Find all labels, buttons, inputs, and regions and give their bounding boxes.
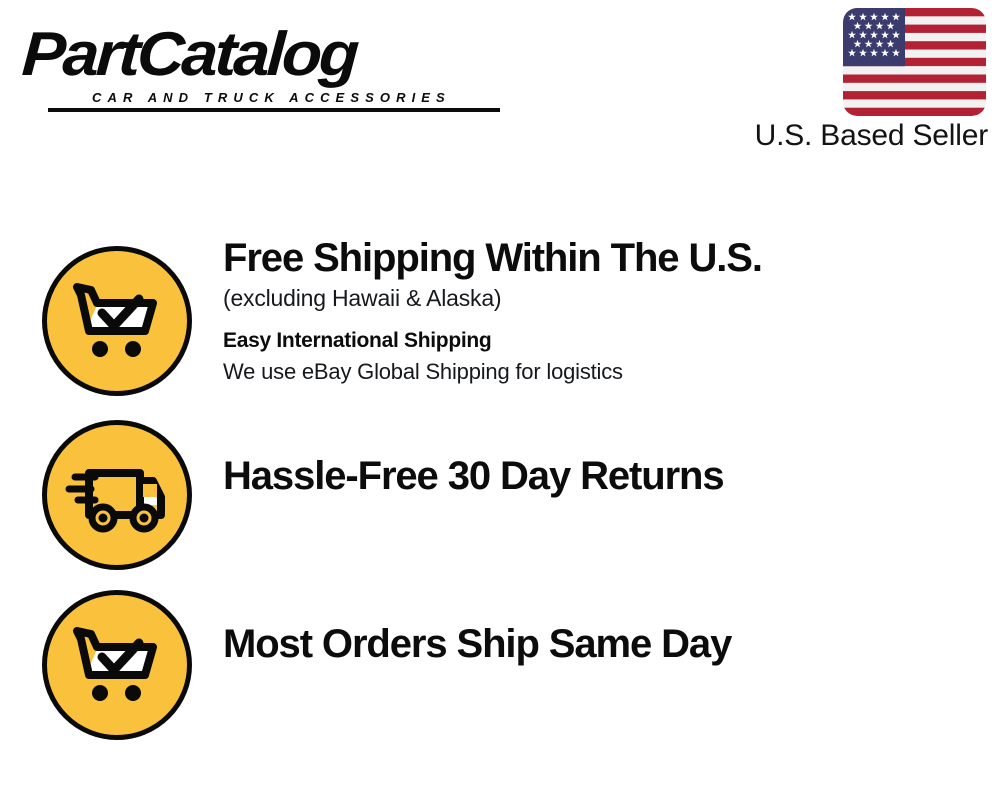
cart-check-icon bbox=[42, 246, 192, 396]
list-item: Most Orders Ship Same Day bbox=[0, 588, 1000, 744]
feature-title: Most Orders Ship Same Day bbox=[223, 620, 963, 668]
feature-text-block: Most Orders Ship Same Day bbox=[223, 620, 963, 668]
brand-logo-underline bbox=[48, 108, 500, 112]
feature-text-block: Free Shipping Within The U.S. (excluding… bbox=[223, 234, 963, 388]
feature-title: Hassle-Free 30 Day Returns bbox=[223, 452, 963, 500]
brand-tagline: CAR AND TRUCK ACCESSORIES bbox=[92, 90, 451, 105]
us-flag-icon bbox=[843, 8, 986, 116]
list-item: Free Shipping Within The U.S. (excluding… bbox=[0, 228, 1000, 410]
list-item: Hassle-Free 30 Day Returns bbox=[0, 418, 1000, 574]
page-header: PartCatalog CAR AND TRUCK ACCESSORIES bbox=[0, 0, 1000, 170]
us-based-seller-label: U.S. Based Seller bbox=[640, 118, 988, 154]
delivery-truck-icon bbox=[42, 420, 192, 570]
feature-secondary-subtitle: We use eBay Global Shipping for logistic… bbox=[223, 356, 963, 388]
feature-subtitle: (excluding Hawaii & Alaska) bbox=[223, 282, 963, 315]
feature-secondary-title: Easy International Shipping bbox=[223, 326, 963, 356]
brand-logo[interactable]: PartCatalog CAR AND TRUCK ACCESSORIES bbox=[24, 22, 494, 112]
brand-wordmark: PartCatalog bbox=[20, 22, 522, 88]
feature-text-block: Hassle-Free 30 Day Returns bbox=[223, 452, 963, 500]
cart-check-icon bbox=[42, 590, 192, 740]
feature-title: Free Shipping Within The U.S. bbox=[223, 234, 963, 282]
